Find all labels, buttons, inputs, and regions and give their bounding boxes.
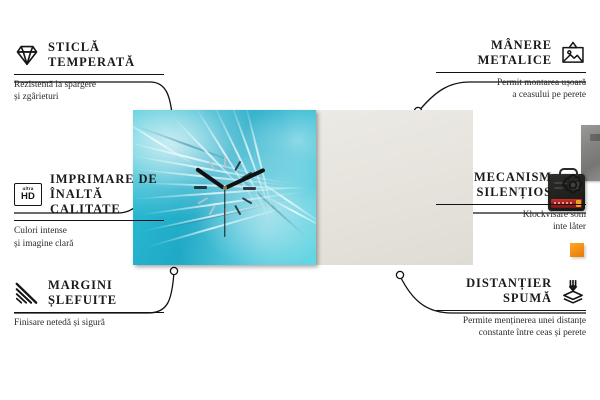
hanger-keyhole-slot bbox=[590, 134, 600, 141]
callout-title: STICLĂTEMPERATĂ bbox=[48, 40, 135, 70]
callout-margini-slefuite: MARGINIȘLEFUITE Finisare netedă și sigur… bbox=[14, 278, 164, 329]
infographic-canvas: STICLĂTEMPERATĂ Rezistentă la spargereși… bbox=[0, 0, 600, 400]
callout-manere-metalice: MÂNEREMETALICE Permit montarea ușoarăa c… bbox=[436, 38, 586, 102]
callout-title: MARGINIȘLEFUITE bbox=[48, 278, 117, 308]
callout-point-margini bbox=[170, 267, 177, 274]
ultra-hd-icon: ultra HD bbox=[14, 183, 42, 206]
foam-spacer-pad bbox=[570, 243, 584, 257]
callout-distantier-spuma: DISTANȚIERSPUMĂ Permite menținerea unei … bbox=[436, 276, 586, 340]
product-composite bbox=[133, 110, 473, 265]
callout-subtitle: Permit montarea ușoarăa ceasului pe pere… bbox=[436, 77, 586, 102]
callout-divider bbox=[436, 310, 586, 311]
callout-mecanism-silentios: MECANISMSILENȚIOS Klockvisare sominte lå… bbox=[436, 170, 586, 234]
callout-subtitle: Culori intenseși imagine clară bbox=[14, 225, 164, 250]
callout-title: MECANISMSILENȚIOS bbox=[474, 170, 552, 200]
callout-divider bbox=[436, 72, 586, 73]
callout-title: MÂNEREMETALICE bbox=[478, 38, 552, 68]
clock-second-hand bbox=[224, 188, 225, 237]
ultra-hd-icon-main-text: HD bbox=[21, 192, 35, 202]
callout-point-distantier bbox=[396, 271, 403, 278]
callout-subtitle: Rezistentă la spargereși zgârieturi bbox=[14, 79, 164, 104]
callout-title: IMPRIMARE DEÎNALTĂ CALITATE bbox=[50, 172, 164, 216]
callout-divider bbox=[14, 312, 164, 313]
callout-subtitle: Permite menținerea unei distanțeconstant… bbox=[436, 315, 586, 340]
picture-frame-icon bbox=[560, 40, 586, 66]
callout-title: DISTANȚIERSPUMĂ bbox=[466, 276, 552, 306]
callout-subtitle: Klockvisare sominte låter bbox=[436, 209, 586, 234]
callout-imprimare-calitate: ultra HD IMPRIMARE DEÎNALTĂ CALITATE Cul… bbox=[14, 172, 164, 250]
clock-center-hub bbox=[223, 186, 227, 190]
callout-subtitle: Finisare netedă și sigură bbox=[14, 317, 164, 329]
gear-icon bbox=[560, 172, 586, 198]
callout-divider bbox=[14, 74, 164, 75]
callout-divider bbox=[436, 204, 586, 205]
callout-divider bbox=[14, 220, 164, 221]
callout-sticla-temperata: STICLĂTEMPERATĂ Rezistentă la spargereși… bbox=[14, 40, 164, 104]
bevel-lines-icon bbox=[14, 280, 40, 306]
foam-spacer-icon bbox=[560, 278, 586, 304]
diamond-icon bbox=[14, 42, 40, 68]
